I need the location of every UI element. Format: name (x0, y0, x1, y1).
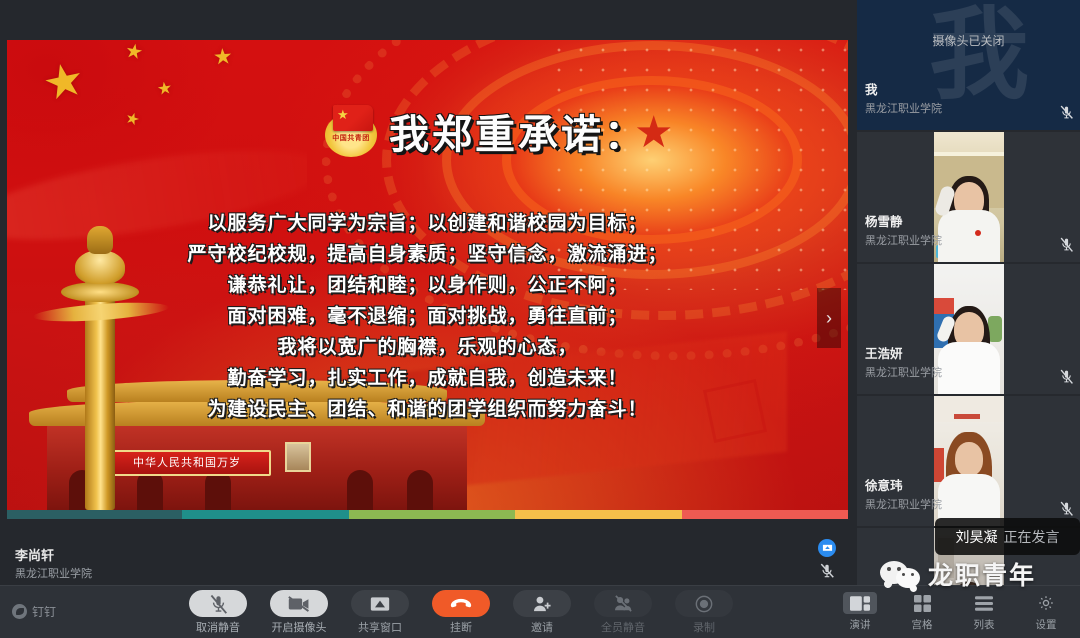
active-speaker-name: 李尚轩 (15, 545, 54, 564)
mic-muted-icon (1060, 369, 1073, 384)
dingtalk-brand: 钉钉 (12, 603, 56, 620)
presentation-layout-icon (850, 596, 870, 611)
flag-star-icon: ★ (39, 54, 89, 108)
shared-screen-video[interactable]: ★ ★ ★ ★ ★ ★ 中华人民共和国万岁 (7, 40, 848, 510)
meeting-toolbar: 钉钉 取消静音 (0, 585, 1080, 638)
screen-share-icon (818, 539, 836, 557)
invite-user-icon (533, 595, 552, 612)
participant-org: 黑龙江职业学院 (865, 496, 942, 512)
mute-all-button[interactable]: 全员静音 (592, 586, 654, 638)
invite-label: 邀请 (531, 619, 553, 635)
next-page-arrow-icon[interactable]: › (817, 288, 841, 348)
start-camera-label: 开启摄像头 (272, 619, 327, 635)
speaking-status-label: 正在发言 (1004, 527, 1060, 547)
pledge-line: 为建设民主、团结、和谐的团学组织而努力奋斗！ (7, 394, 848, 425)
pledge-text-block: 以服务广大同学为宗旨；以创建和谐校园为目标； 严守校纪校规，提高自身素质；坚守信… (7, 208, 848, 425)
gate-door (205, 470, 231, 510)
screen-edge-color-strip (7, 510, 848, 519)
pledge-line: 谦恭礼让，团结和睦；以身作则，公正不阿； (7, 270, 848, 301)
share-window-icon (370, 596, 390, 612)
layout-list-label: 列表 (974, 617, 995, 632)
mic-muted-icon (1060, 105, 1073, 120)
strip-segment (515, 510, 682, 519)
list-layout-icon (975, 596, 993, 611)
layout-presentation-button[interactable]: 演讲 (834, 586, 886, 638)
layout-list-button[interactable]: 列表 (958, 586, 1010, 638)
pledge-line: 勤奋学习，扎实工作，成就自我，创造未来！ (7, 363, 848, 394)
participant-video (934, 264, 1004, 394)
strip-segment (682, 510, 849, 519)
speaking-notification: 刘昊凝 正在发言 (935, 518, 1080, 555)
pledge-line: 以服务广大同学为宗旨；以创建和谐校园为目标； (7, 208, 848, 239)
hangup-label: 挂断 (450, 619, 472, 635)
grid-layout-icon (914, 595, 931, 612)
flag-star-icon: ★ (212, 45, 233, 68)
share-window-label: 共享窗口 (358, 619, 402, 635)
dingtalk-logo-icon (12, 604, 27, 619)
speaking-participant-name: 刘昊凝 (956, 527, 998, 547)
participant-tile-self[interactable]: 我 摄像头已关闭 我 黑龙江职业学院 (857, 0, 1080, 130)
settings-label: 设置 (1036, 617, 1057, 632)
record-button[interactable]: 录制 (673, 586, 735, 638)
gate-door (407, 470, 433, 510)
record-label: 录制 (693, 619, 715, 635)
pledge-line: 严守校纪校规，提高自身素质；坚守信念，激流涌进； (7, 239, 848, 270)
active-speaker-org: 黑龙江职业学院 (15, 565, 92, 581)
settings-button[interactable]: 设置 (1020, 586, 1072, 638)
main-stage: ★ ★ ★ ★ ★ ★ 中华人民共和国万岁 (0, 0, 855, 585)
layout-presentation-label: 演讲 (850, 617, 871, 632)
mute-all-icon (614, 595, 633, 612)
flag-star-icon: ★ (123, 110, 142, 130)
camera-off-label: 摄像头已关闭 (857, 32, 1080, 49)
flag-star-icon: ★ (156, 79, 173, 98)
participant-name: 徐意玮 (865, 475, 903, 494)
mute-all-label: 全员静音 (601, 619, 645, 635)
participant-org: 黑龙江职业学院 (865, 364, 942, 380)
brand-label: 钉钉 (32, 603, 56, 620)
gear-icon (1038, 595, 1054, 611)
strip-segment (349, 510, 516, 519)
pledge-line: 面对困难，毫不退缩；面对挑战，勇往直前； (7, 301, 848, 332)
participant-name: 杨雪静 (865, 211, 903, 230)
emblem-label: 中国共青团 (331, 133, 371, 143)
layout-grid-label: 宫格 (912, 617, 933, 632)
active-speaker-info: 李尚轩 黑龙江职业学院 (7, 527, 848, 585)
participant-tile[interactable]: 杨雪静 黑龙江职业学院 (857, 132, 1080, 262)
gate-portrait (285, 442, 311, 472)
slide-title-text: 我郑重承诺： (389, 102, 647, 160)
self-watermark: 我 (929, 0, 1029, 120)
dingtalk-meeting-window: ★ ★ ★ ★ ★ ★ 中华人民共和国万岁 (0, 0, 1080, 638)
participant-video (934, 132, 1004, 262)
mic-muted-icon (820, 563, 834, 579)
record-icon (695, 595, 713, 613)
hangup-icon (450, 597, 472, 611)
camera-off-icon (288, 596, 310, 612)
participant-tile[interactable]: 徐意玮 黑龙江职业学院 (857, 396, 1080, 526)
mic-muted-icon (1060, 237, 1073, 252)
mic-muted-icon (210, 594, 227, 614)
slide-title: ★ 中国共青团 我郑重承诺： (323, 102, 647, 160)
pledge-line: 我将以宽广的胸襟，乐观的心态， (7, 332, 848, 363)
participant-video (934, 396, 1004, 526)
participant-tile[interactable]: 王浩妍 黑龙江职业学院 (857, 264, 1080, 394)
participant-org: 黑龙江职业学院 (865, 232, 942, 248)
gate-door (347, 470, 373, 510)
strip-segment (7, 510, 182, 519)
invite-button[interactable]: 邀请 (511, 586, 573, 638)
participant-name: 我 (865, 79, 878, 98)
participant-name: 王浩妍 (865, 343, 903, 362)
strip-segment (182, 510, 349, 519)
flag-star-icon: ★ (123, 41, 144, 64)
primary-controls: 取消静音 开启摄像头 (187, 586, 735, 638)
unmute-label: 取消静音 (196, 619, 240, 635)
view-layout-controls: 演讲 宫格 (834, 586, 1072, 638)
participant-rail[interactable]: 我 摄像头已关闭 我 黑龙江职业学院 (857, 0, 1080, 585)
start-camera-button[interactable]: 开启摄像头 (268, 586, 330, 638)
layout-grid-button[interactable]: 宫格 (896, 586, 948, 638)
youth-league-emblem-icon: ★ 中国共青团 (323, 103, 379, 159)
hangup-button[interactable]: 挂断 (430, 586, 492, 638)
participant-org: 黑龙江职业学院 (865, 100, 942, 116)
unmute-button[interactable]: 取消静音 (187, 586, 249, 638)
share-window-button[interactable]: 共享窗口 (349, 586, 411, 638)
mic-muted-icon (1060, 501, 1073, 516)
